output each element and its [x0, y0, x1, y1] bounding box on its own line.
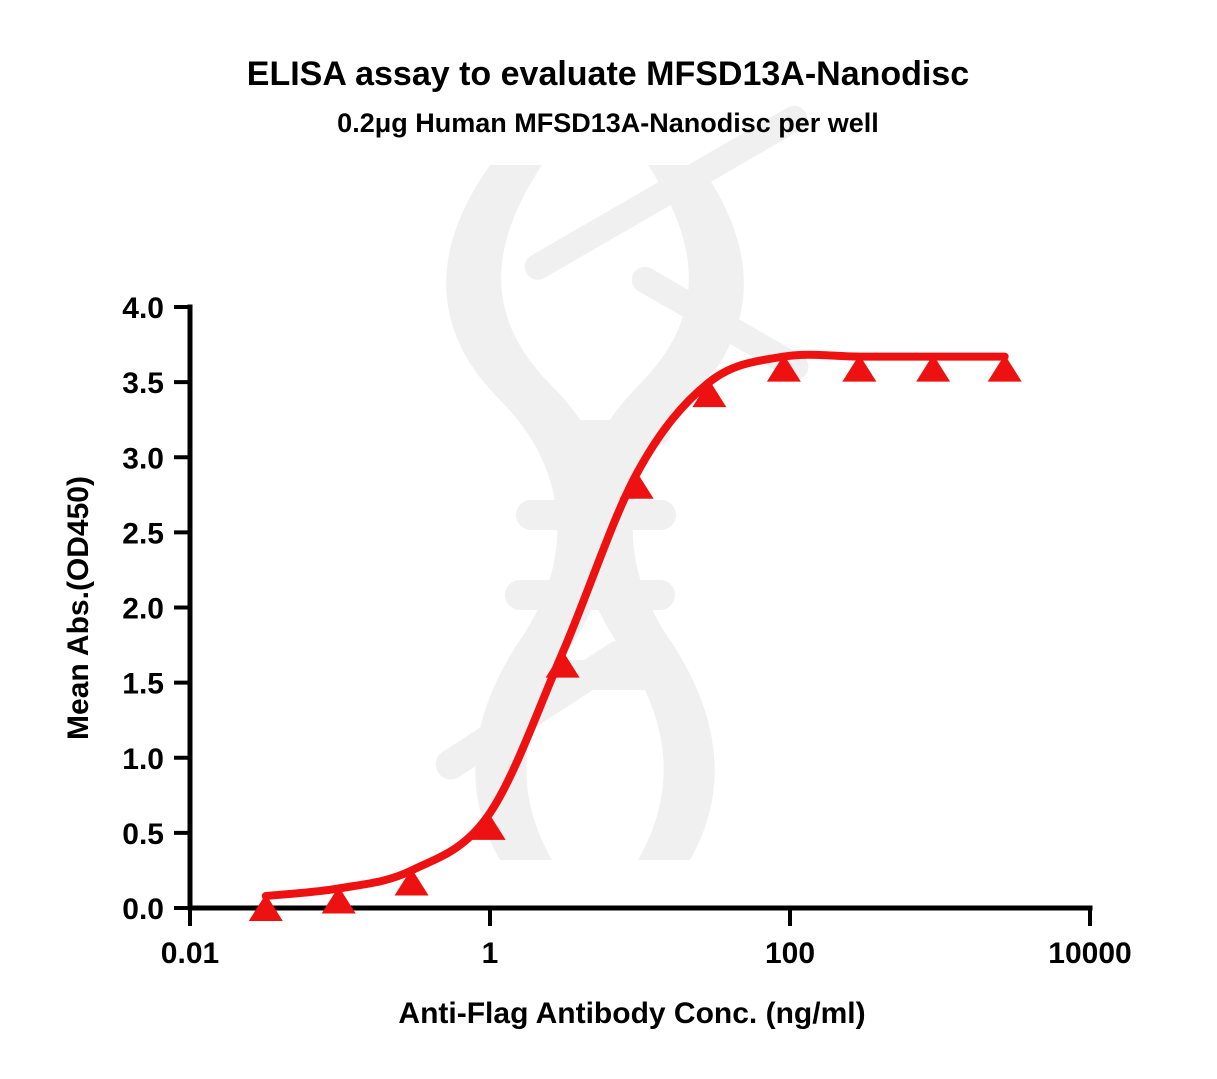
x-axis-label: Anti-Flag Antibody Conc. (ng/ml): [398, 997, 865, 1030]
x-tick-label: 1: [482, 937, 499, 970]
y-tick-label: 3.5: [122, 367, 164, 400]
y-tick-label: 1.5: [122, 668, 164, 701]
y-tick-label: 0.5: [122, 818, 164, 851]
y-tick-label: 2.5: [122, 517, 164, 550]
y-tick-label: 1.0: [122, 743, 164, 776]
y-tick-label: 2.0: [122, 593, 164, 626]
chart-title: ELISA assay to evaluate MFSD13A-Nanodisc: [247, 55, 969, 93]
x-tick-label: 0.01: [161, 937, 219, 970]
y-tick-label: 3.0: [122, 442, 164, 475]
chart-subtitle: 0.2μg Human MFSD13A-Nanodisc per well: [337, 108, 879, 138]
y-tick-label: 4.0: [122, 292, 164, 325]
x-tick-label: 10000: [1048, 937, 1131, 970]
x-tick-label: 100: [765, 937, 815, 970]
y-tick-label: 0.0: [122, 893, 164, 926]
y-axis-label: Mean Abs.(OD450): [62, 476, 95, 740]
elisa-chart-figure: ELISA assay to evaluate MFSD13A-Nanodisc…: [0, 0, 1217, 1079]
